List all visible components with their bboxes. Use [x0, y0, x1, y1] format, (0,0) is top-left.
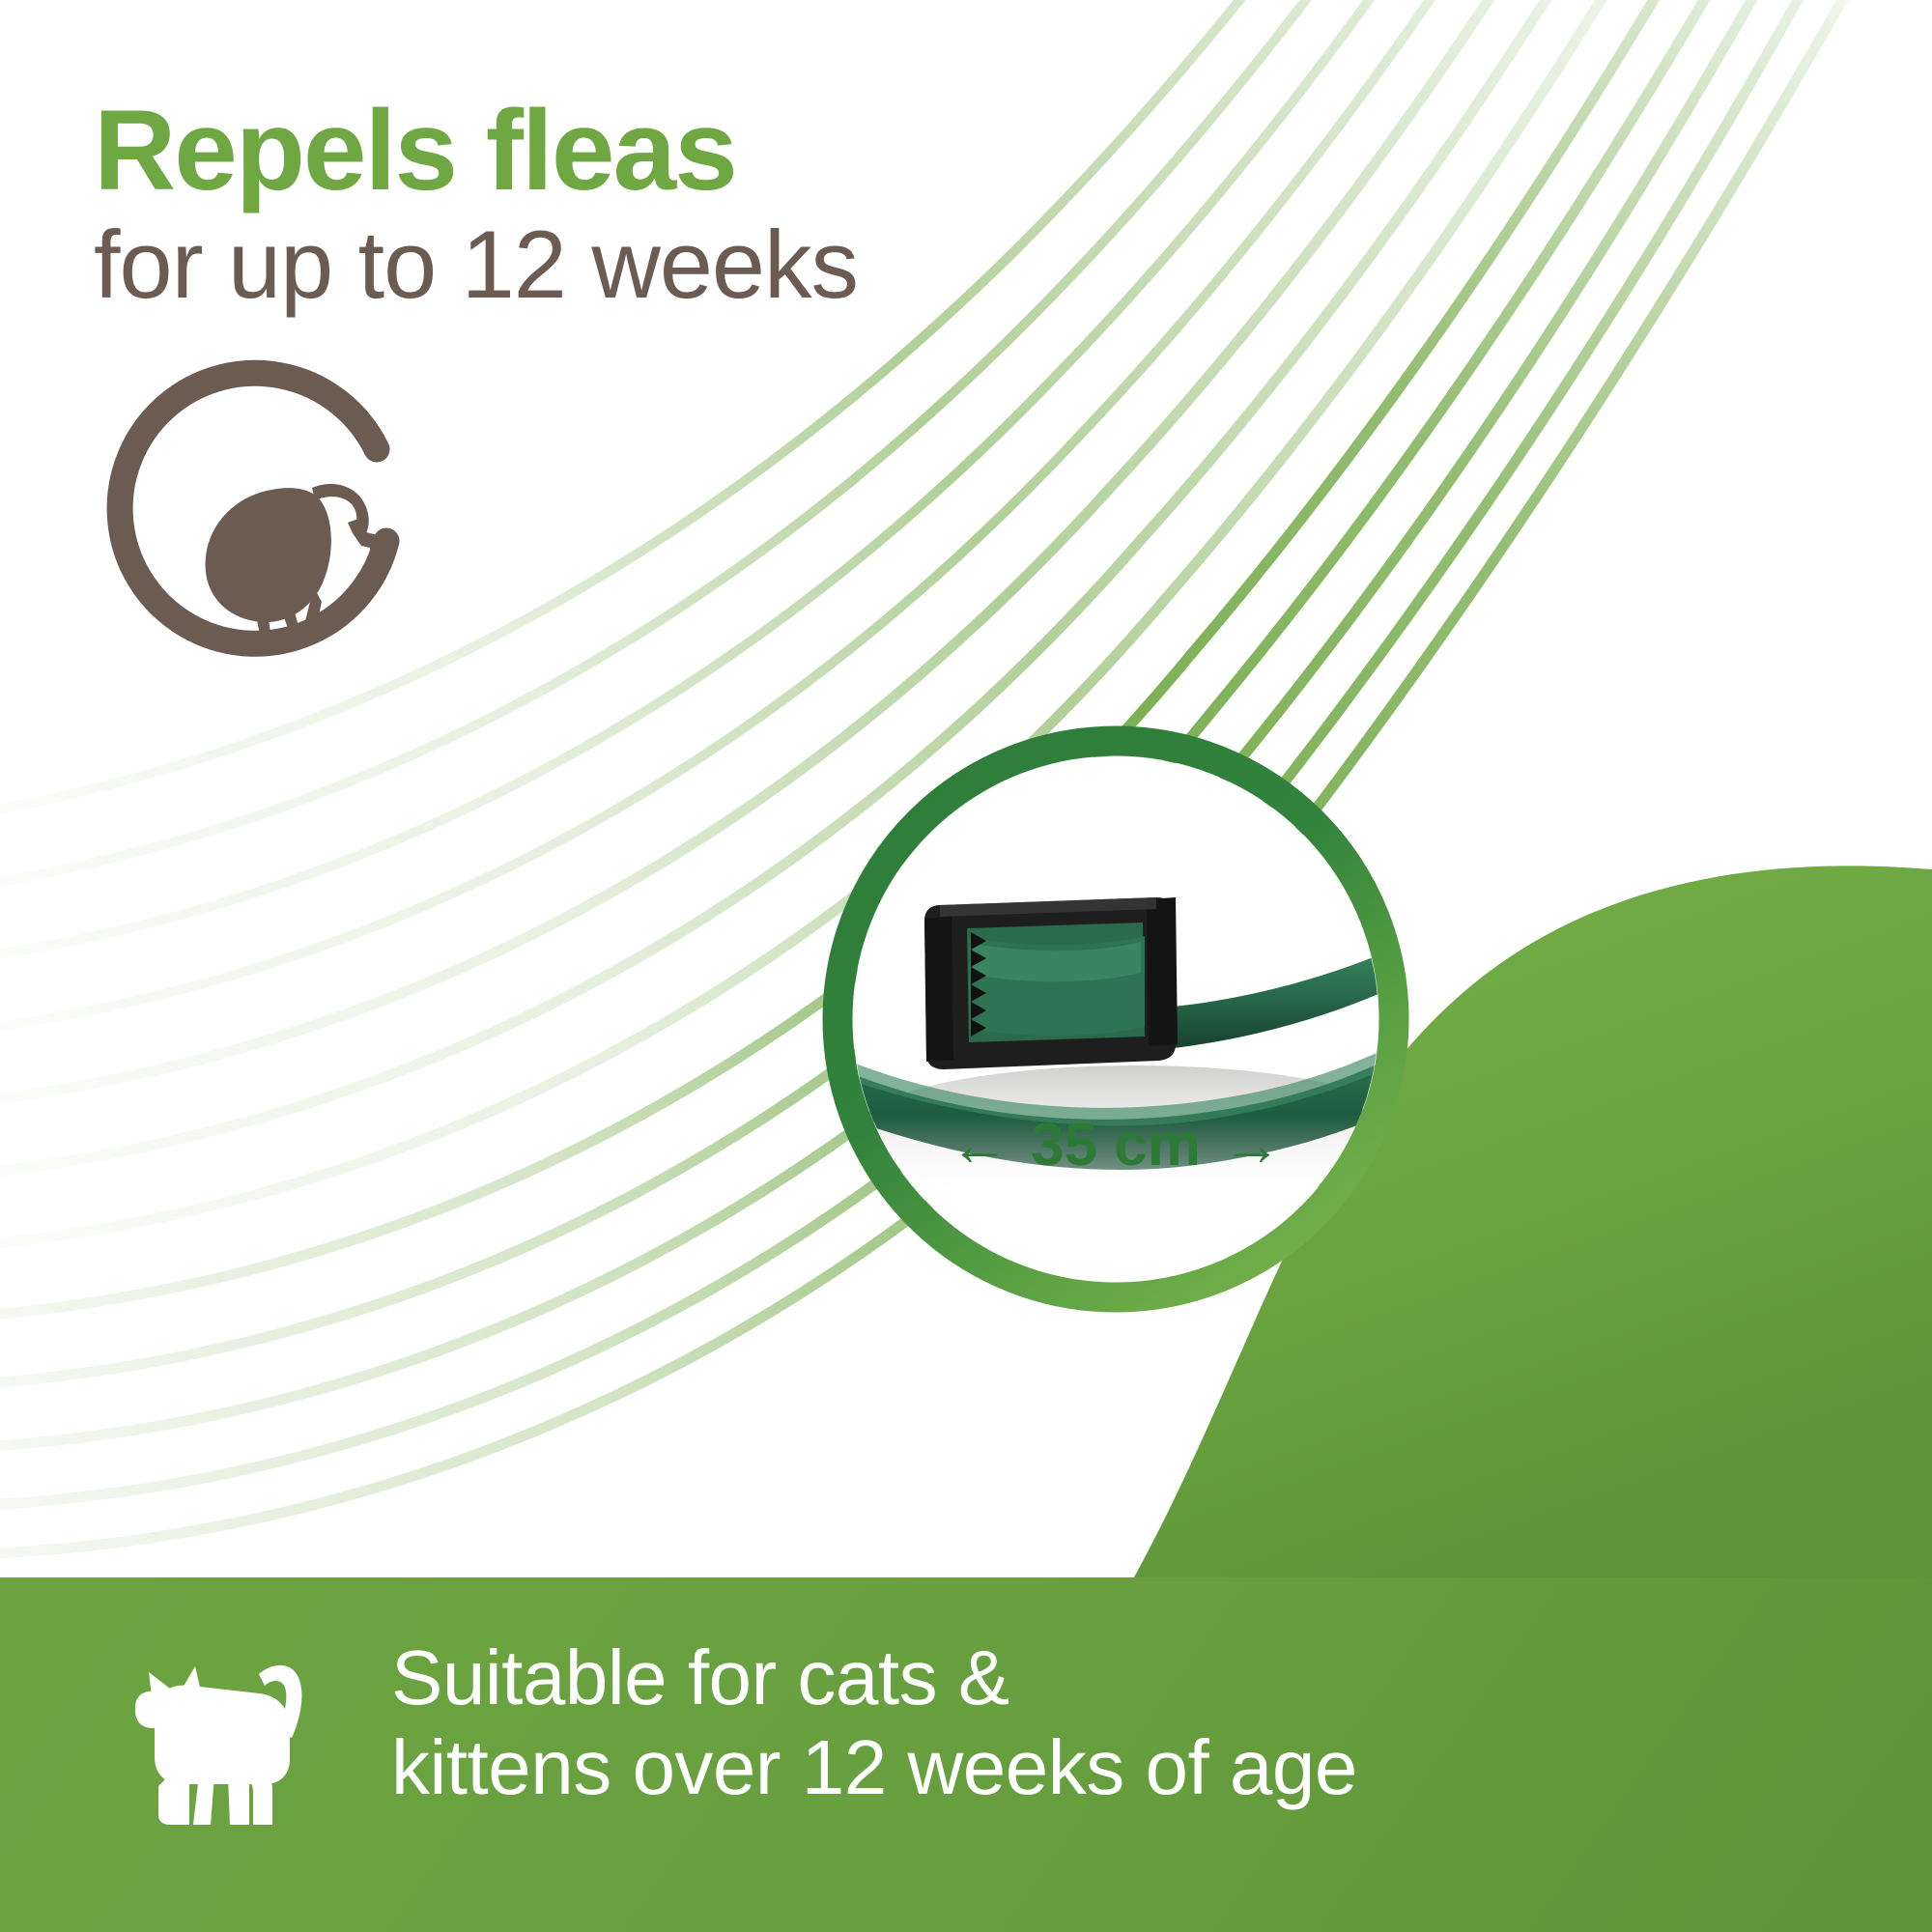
arrow-left-icon: ←: [950, 1111, 1009, 1179]
arrow-right-icon: →: [1222, 1111, 1282, 1179]
banner-line-1: Suitable for cats &: [391, 1634, 1357, 1723]
measurement-value: 35 cm: [1031, 1111, 1201, 1179]
bottom-banner: Suitable for cats & kittens over 12 week…: [0, 1577, 1932, 1932]
banner-text: Suitable for cats & kittens over 12 week…: [391, 1634, 1357, 1813]
collar-buckle: [924, 897, 1178, 1069]
collar-magnifier-circle: [816, 720, 1415, 1319]
banner-line-2: kittens over 12 weeks of age: [391, 1723, 1357, 1813]
flea-in-circle-icon: [92, 343, 440, 691]
headline-secondary: for up to 12 weeks: [94, 214, 1156, 316]
cat-silhouette-icon: [114, 1653, 322, 1836]
measurement-label: ← 35 cm →: [816, 1111, 1415, 1179]
headline-primary: Repels fleas: [94, 93, 1156, 209]
product-feature-panel: Repels fleas for up to 12 weeks: [0, 0, 1932, 1932]
headline-block: Repels fleas for up to 12 weeks: [94, 93, 1156, 316]
